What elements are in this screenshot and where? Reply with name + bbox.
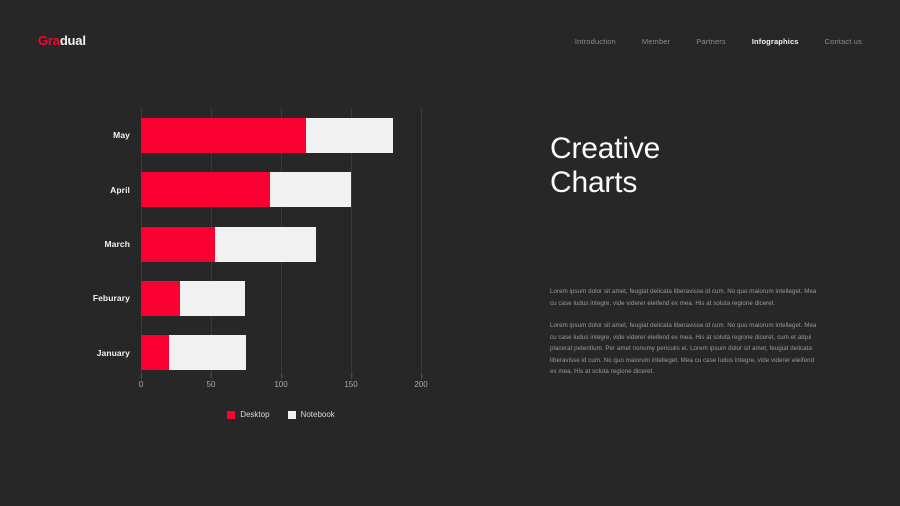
chart-gridline: [421, 108, 422, 380]
page-title-line-1: Creative: [550, 132, 820, 166]
brand-logo-accent: Gra: [38, 33, 60, 48]
stacked-bar-chart: MayAprilMarchFeburaryJanuary 05010015020…: [0, 90, 520, 440]
chart-bar-segment-notebook[interactable]: [306, 118, 393, 153]
chart-category-label: March: [104, 239, 130, 249]
site-header: Gradual Introduction Member Partners Inf…: [0, 0, 900, 66]
chart-legend-item-desktop[interactable]: Desktop: [227, 410, 269, 419]
chart-bar-segment-desktop[interactable]: [141, 335, 169, 370]
nav-item-infographics[interactable]: Infographics: [752, 37, 799, 46]
nav-item-contact-us[interactable]: Contact us: [825, 37, 862, 46]
chart-category-label: April: [110, 185, 130, 195]
chart-bar-segment-desktop[interactable]: [141, 227, 215, 262]
chart-bar-segment-notebook[interactable]: [270, 172, 351, 207]
chart-category-label: Feburary: [93, 293, 130, 303]
body-paragraph: Lorem ipsum dolor sit amet, feugiat deli…: [550, 320, 820, 377]
chart-x-tick-mark: [281, 374, 282, 378]
chart-bar-row[interactable]: January: [141, 335, 246, 370]
legend-swatch-notebook: [288, 411, 296, 419]
title-body-spacer: [550, 199, 820, 286]
page-title: Creative Charts: [550, 132, 820, 199]
nav-item-introduction[interactable]: Introduction: [575, 37, 616, 46]
chart-bar-row[interactable]: March: [141, 227, 316, 262]
nav-item-partners[interactable]: Partners: [696, 37, 726, 46]
nav-item-member[interactable]: Member: [642, 37, 670, 46]
chart-x-tick-label: 200: [414, 380, 427, 389]
chart-x-tick-mark: [141, 374, 142, 378]
chart-x-tick-mark: [421, 374, 422, 378]
body-copy: Lorem ipsum dolor sit amet, feugiat deli…: [550, 286, 820, 377]
chart-bar-segment-notebook[interactable]: [180, 281, 244, 316]
legend-swatch-desktop: [227, 411, 235, 419]
chart-bar-segment-notebook[interactable]: [215, 227, 316, 262]
chart-x-tick-label: 150: [344, 380, 357, 389]
chart-x-axis: 050100150200: [141, 380, 421, 400]
brand-logo-plain: dual: [60, 33, 86, 48]
legend-label: Notebook: [301, 410, 335, 419]
page-title-line-2: Charts: [550, 166, 820, 200]
chart-x-tick-label: 100: [274, 380, 287, 389]
chart-bar-row[interactable]: Feburary: [141, 281, 245, 316]
chart-legend: DesktopNotebook: [141, 410, 421, 419]
chart-bar-segment-desktop[interactable]: [141, 172, 270, 207]
chart-x-tick-mark: [211, 374, 212, 378]
chart-bar-segment-desktop[interactable]: [141, 281, 180, 316]
chart-plot-area: MayAprilMarchFeburaryJanuary: [141, 108, 421, 380]
chart-legend-item-notebook[interactable]: Notebook: [288, 410, 335, 419]
chart-x-tick-label: 0: [139, 380, 143, 389]
body-paragraph: Lorem ipsum dolor sit amet, feugiat deli…: [550, 286, 820, 309]
content-panel: Creative Charts Lorem ipsum dolor sit am…: [550, 132, 820, 377]
chart-bar-row[interactable]: April: [141, 172, 351, 207]
chart-bar-row[interactable]: May: [141, 118, 393, 153]
main-nav: Introduction Member Partners Infographic…: [575, 37, 862, 46]
chart-x-tick-mark: [351, 374, 352, 378]
brand-logo[interactable]: Gradual: [38, 34, 86, 47]
chart-category-label: May: [113, 130, 130, 140]
chart-category-label: January: [97, 348, 130, 358]
legend-label: Desktop: [240, 410, 269, 419]
chart-bar-segment-desktop[interactable]: [141, 118, 306, 153]
chart-bar-segment-notebook[interactable]: [169, 335, 246, 370]
chart-x-tick-label: 50: [207, 380, 216, 389]
